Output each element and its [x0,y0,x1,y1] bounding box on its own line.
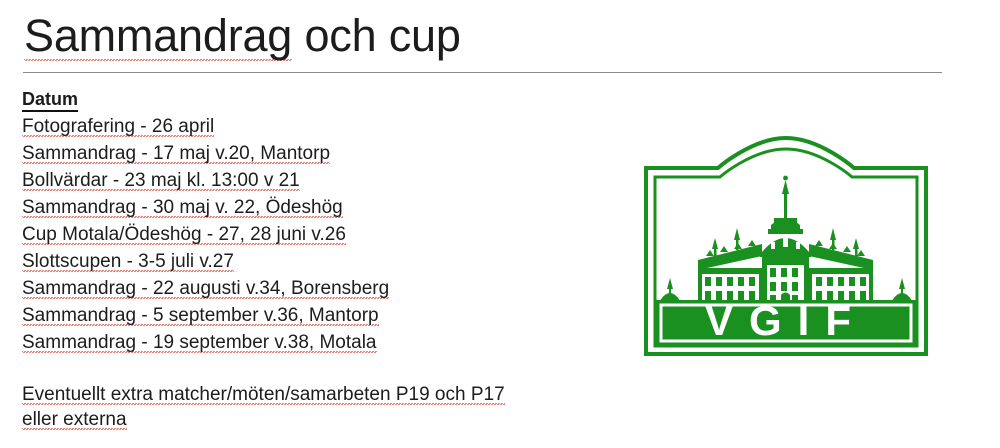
schedule-line: Sammandrag - 19 september v.38, Motala [22,329,622,356]
section-heading-label: Datum [22,89,78,112]
page-title-rest: och cup [292,10,461,61]
footer-note-line: Eventuellt extra matcher/möten/samarbete… [22,382,622,407]
schedule-line: Sammandrag - 17 maj v.20, Mantorp [22,140,622,167]
vgif-logo: VGIF [640,132,932,360]
page-title-misspelled-word: Sammandrag [24,10,292,65]
section-heading: Datum [22,86,622,113]
logo-wordmark-text: VGIF [705,297,867,344]
schedule-line: Cup Motala/Ödeshög - 27, 28 juni v.26 [22,221,622,248]
schedule-line: Fotografering - 26 april [22,113,622,140]
schedule-line: Sammandrag - 30 maj v. 22, Ödeshög [22,194,622,221]
schedule-line: Bollvärdar - 23 maj kl. 13:00 v 21 [22,167,622,194]
page-title: Sammandrag och cup [24,8,461,64]
schedule-block: Datum Fotografering - 26 april Sammandra… [22,86,622,356]
footer-note-block: Eventuellt extra matcher/möten/samarbete… [22,382,622,432]
schedule-line: Sammandrag - 5 september v.36, Mantorp [22,302,622,329]
footer-note-line: eller externa [22,407,622,432]
title-divider [23,72,942,73]
schedule-line: Sammandrag - 22 augusti v.34, Borensberg [22,275,622,302]
schedule-line: Slottscupen - 3-5 juli v.27 [22,248,622,275]
